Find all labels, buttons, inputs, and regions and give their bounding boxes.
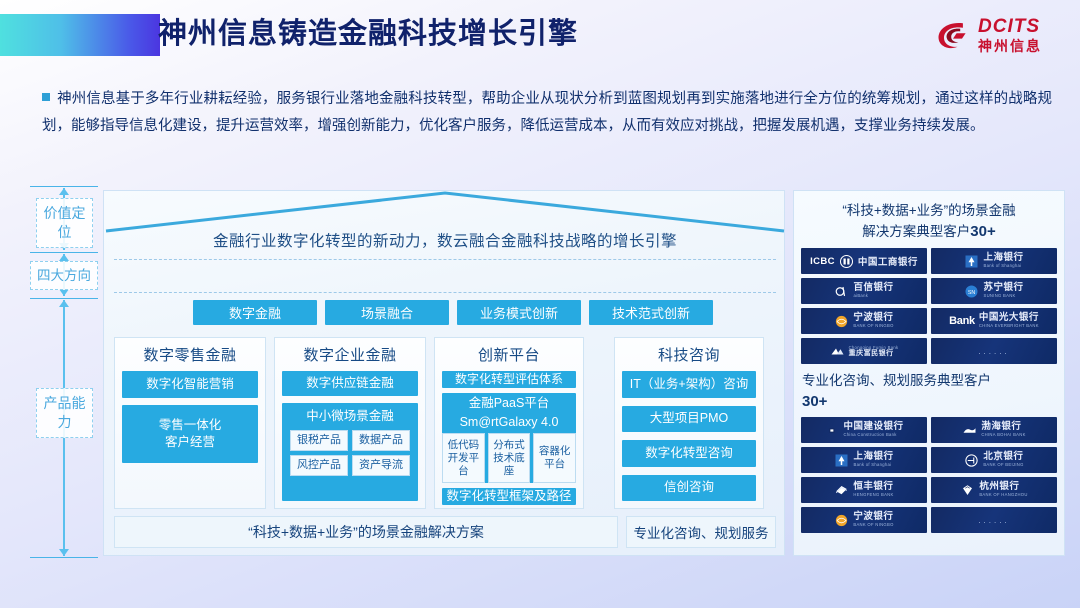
tri-container-platform[interactable]: 容器化平台 xyxy=(533,433,576,483)
item-transformation-framework[interactable]: 数字化转型框架及路径 xyxy=(442,488,576,505)
suning-en-label: SUNING BANK xyxy=(983,294,1023,298)
bullet-icon xyxy=(42,93,50,101)
center-panel: 金融行业数字化转型的新动力，数云融合金融科技战略的增长引擎 数字金融 场景融合 … xyxy=(103,190,785,556)
axis-rule-top xyxy=(30,186,98,187)
item-digital-transformation-consulting[interactable]: 数字化转型咨询 xyxy=(622,440,756,467)
title-accent-bar xyxy=(0,14,160,56)
logo-tile-bank-of-ningbo-1[interactable]: 宁波银行 BANK OF NINGBO xyxy=(801,308,927,334)
customers-title-1-line2: 解决方案典型客户 xyxy=(862,224,970,239)
divider-2 xyxy=(114,292,776,293)
aibank-en-label: aiBank xyxy=(853,294,893,298)
item-retail-integration[interactable]: 零售一体化 客户经营 xyxy=(122,405,258,463)
left-axis-labels: 价值定位 四大方向 产品能力 xyxy=(30,186,98,558)
paas-sub-grid: 低代码开发平台 分布式技术底座 容器化平台 xyxy=(442,433,576,483)
axis-label-four-directions: 四大方向 xyxy=(30,261,98,290)
customers-panel: “科技+数据+业务”的场景金融 解决方案典型客户30+ ICBC 中国工商银行 … xyxy=(793,190,1065,556)
more-dots-label-2: ...... xyxy=(978,516,1009,525)
logo-tile-bank-of-shanghai[interactable]: 上海银行 Bank of Shanghai xyxy=(931,248,1057,274)
ccb-text: 中国建设银行 China Construction Bank xyxy=(843,422,903,437)
center-captions: “科技+数据+业务”的场景金融解决方案 专业化咨询、规划服务 xyxy=(114,516,776,548)
dcits-logo-text: DCITS 神州信息 xyxy=(978,17,1042,53)
paas-name-line1: 金融PaaS平台 xyxy=(469,395,550,411)
ningbo-cn-label-2: 宁波银行 xyxy=(853,512,893,522)
four-directions-row: 数字金融 场景融合 业务模式创新 技术范式创新 xyxy=(193,300,713,325)
suning-cn-label: 苏宁银行 xyxy=(983,283,1023,293)
bank-of-shanghai-emblem-icon xyxy=(964,254,979,269)
mini-tax-product[interactable]: 银税产品 xyxy=(290,430,348,451)
customers-title-1-line1: “科技+数据+业务”的场景金融 xyxy=(842,203,1015,218)
bos-cn-label: 上海银行 xyxy=(983,253,1023,263)
center-headline: 金融行业数字化转型的新动力，数云融合金融科技战略的增长引擎 xyxy=(104,229,786,251)
item-financial-paas[interactable]: 金融PaaS平台 Sm@rtGalaxy 4.0 低代码开发平台 分布式技术底座… xyxy=(442,393,576,483)
icbc-emblem-icon xyxy=(839,254,854,269)
bank-of-hangzhou-emblem-icon xyxy=(960,483,975,498)
item-large-project-pmo[interactable]: 大型项目PMO xyxy=(622,406,756,433)
item-sme-scenario-finance[interactable]: 中小微场景金融 银税产品 数据产品 风控产品 资产导流 xyxy=(282,403,418,502)
item-smart-marketing[interactable]: 数字化智能营销 xyxy=(122,371,258,398)
mini-asset-routing[interactable]: 资产导流 xyxy=(352,455,410,476)
column-spacer xyxy=(592,337,606,509)
logo-tile-more-1[interactable]: ...... xyxy=(931,338,1057,364)
everbright-en-label: CHINA EVERBRIGHT BANK xyxy=(979,324,1039,328)
customer-logo-grid-1: ICBC 中国工商银行 上海银行 Bank of Shanghai 百信银行 a… xyxy=(794,248,1064,364)
axis-label-value-position: 价值定位 xyxy=(36,198,93,248)
divider-1 xyxy=(114,259,776,260)
customers-count-1: 30+ xyxy=(970,223,995,240)
axis-rule-bottom xyxy=(30,557,98,558)
bohai-text: 渤海银行 CHINA BOHAI BANK xyxy=(981,422,1025,437)
dcits-swirl-icon xyxy=(935,17,971,53)
column-digital-enterprise-finance: 数字企业金融 数字供应链金融 中小微场景金融 银税产品 数据产品 风控产品 资产… xyxy=(274,337,426,509)
fumin-cn-label: 重庆富民银行 xyxy=(849,350,899,357)
customers-count-2: 30+ xyxy=(802,393,827,410)
bohai-en-label: CHINA BOHAI BANK xyxy=(981,433,1025,437)
bohai-cn-label: 渤海银行 xyxy=(981,422,1025,432)
intro-paragraph: 神州信息基于多年行业耕耘经验，服务银行业落地金融科技转型，帮助企业从现状分析到蓝… xyxy=(42,86,1052,140)
dcits-logo: DCITS 神州信息 xyxy=(935,17,1042,53)
logo-tile-bank-of-ningbo-2[interactable]: 宁波银行 BANK OF NINGBO xyxy=(801,507,927,533)
suning-text: 苏宁银行 SUNING BANK xyxy=(983,283,1023,298)
customers-title-1: “科技+数据+业务”的场景金融 解决方案典型客户30+ xyxy=(794,191,1064,248)
tri-low-code-platform[interactable]: 低代码开发平台 xyxy=(442,433,485,483)
hangzhou-text: 杭州银行 BANK OF HANGZHOU xyxy=(979,482,1027,497)
axis-rule-mid2 xyxy=(30,298,98,299)
logo-tile-bank-of-shanghai-2[interactable]: 上海银行 Bank of Shanghai xyxy=(801,447,927,473)
roof-shape-icon xyxy=(104,191,786,233)
item-supply-chain-finance[interactable]: 数字供应链金融 xyxy=(282,371,418,396)
mini-data-product[interactable]: 数据产品 xyxy=(352,430,410,451)
ningbo-text-1: 宁波银行 BANK OF NINGBO xyxy=(853,313,893,328)
bank-of-ningbo-emblem-icon-2 xyxy=(834,513,849,528)
sme-product-grid: 银税产品 数据产品 风控产品 资产导流 xyxy=(290,430,410,476)
bank-of-shanghai-emblem-icon-2 xyxy=(834,453,849,468)
bos-en-label-2: Bank of Shanghai xyxy=(853,463,893,467)
ccb-emblem-icon xyxy=(824,423,839,438)
axis-rule-mid1 xyxy=(30,252,98,253)
item-transformation-assessment[interactable]: 数字化转型评估体系 xyxy=(442,371,576,388)
ningbo-en-label-2: BANK OF NINGBO xyxy=(853,523,893,527)
icbc-cn-label: 中国工商银行 xyxy=(858,254,918,268)
logo-tile-hengfeng-bank[interactable]: 恒丰银行 HENGFENG BANK xyxy=(801,477,927,503)
logo-cn-label: 神州信息 xyxy=(978,39,1042,53)
direction-chip-4[interactable]: 技术范式创新 xyxy=(589,300,713,325)
hangzhou-cn-label: 杭州银行 xyxy=(979,482,1027,492)
bohai-bank-emblem-icon xyxy=(962,423,977,438)
item-retail-line2: 客户经营 xyxy=(165,434,215,451)
icbc-prefix-label: ICBC xyxy=(810,256,835,267)
ccb-cn-label: 中国建设银行 xyxy=(843,422,903,432)
hengfeng-en-label: HENGFENG BANK xyxy=(853,493,893,497)
caption-consulting-service: 专业化咨询、规划服务 xyxy=(626,516,776,548)
item-retail-line1: 零售一体化 xyxy=(159,417,222,434)
column-4-title: 科技咨询 xyxy=(622,344,756,365)
caption-scenario-solution: “科技+数据+业务”的场景金融解决方案 xyxy=(114,516,618,548)
logo-tile-ccb[interactable]: 中国建设银行 China Construction Bank xyxy=(801,417,927,443)
hangzhou-en-label: BANK OF HANGZHOU xyxy=(979,493,1027,497)
logo-tile-aibank[interactable]: 百信银行 aiBank xyxy=(801,278,927,304)
customers-title-2-line1: 专业化咨询、规划服务典型客户 xyxy=(802,373,991,388)
bos-text-2: 上海银行 Bank of Shanghai xyxy=(853,452,893,467)
tri-distributed-base[interactable]: 分布式技术底座 xyxy=(488,433,531,483)
column-tech-consulting: 科技咨询 IT（业务+架构）咨询 大型项目PMO 数字化转型咨询 信创咨询 xyxy=(614,337,764,509)
logo-tile-everbright-bank[interactable]: Bank 中国光大银行 CHINA EVERBRIGHT BANK xyxy=(931,308,1057,334)
hengfeng-bank-emblem-icon xyxy=(834,483,849,498)
fumin-text: Chongqing Fumin Bank 重庆富民银行 xyxy=(849,345,899,358)
column-innovation-platform: 创新平台 数字化转型评估体系 金融PaaS平台 Sm@rtGalaxy 4.0 … xyxy=(434,337,584,509)
capability-columns: 数字零售金融 数字化智能营销 零售一体化 客户经营 数字企业金融 数字供应链金融… xyxy=(114,337,776,509)
customer-logo-grid-2: 中国建设银行 China Construction Bank 渤海银行 CHIN… xyxy=(794,417,1064,533)
bank-of-ningbo-emblem-icon xyxy=(834,314,849,329)
everbright-cn-label: 中国光大银行 xyxy=(979,313,1039,323)
everbright-prefix-label: Bank xyxy=(949,315,975,327)
logo-tile-icbc[interactable]: ICBC 中国工商银行 xyxy=(801,248,927,274)
beijing-cn-label: 北京银行 xyxy=(983,452,1023,462)
svg-text:SN: SN xyxy=(968,289,976,295)
ningbo-en-label-1: BANK OF NINGBO xyxy=(853,324,893,328)
page-header: 神州信息铸造金融科技增长引擎 DCITS 神州信息 xyxy=(0,0,1080,72)
item-xinchuang-consulting[interactable]: 信创咨询 xyxy=(622,475,756,502)
hengfeng-text: 恒丰银行 HENGFENG BANK xyxy=(853,482,893,497)
fumin-bank-emblem-icon xyxy=(830,344,845,359)
column-1-title: 数字零售金融 xyxy=(122,344,258,365)
mini-risk-product[interactable]: 风控产品 xyxy=(290,455,348,476)
customers-title-2: 专业化咨询、规划服务典型客户 30+ xyxy=(794,364,1064,417)
logo-en-label: DCITS xyxy=(978,17,1042,36)
intro-text: 神州信息基于多年行业耕耘经验，服务银行业落地金融科技转型，帮助企业从现状分析到蓝… xyxy=(42,91,1052,134)
page-title: 神州信息铸造金融科技增长引擎 xyxy=(158,12,578,56)
logo-tile-bank-of-hangzhou[interactable]: 杭州银行 BANK OF HANGZHOU xyxy=(931,477,1057,503)
beijing-en-label: BANK OF BEIJING xyxy=(983,463,1023,467)
suning-bank-emblem-icon: SN xyxy=(964,284,979,299)
direction-chip-3[interactable]: 业务模式创新 xyxy=(457,300,581,325)
axis-label-product-capability: 产品能力 xyxy=(36,388,93,438)
logo-tile-suning-bank[interactable]: SN 苏宁银行 SUNING BANK xyxy=(931,278,1057,304)
ningbo-cn-label-1: 宁波银行 xyxy=(853,313,893,323)
bos-cn-label-2: 上海银行 xyxy=(853,452,893,462)
aibank-cn-label: 百信银行 xyxy=(853,283,893,293)
column-digital-retail-finance: 数字零售金融 数字化智能营销 零售一体化 客户经营 xyxy=(114,337,266,509)
hengfeng-cn-label: 恒丰银行 xyxy=(853,482,893,492)
aibank-emblem-icon xyxy=(834,284,849,299)
logo-tile-more-2[interactable]: ...... xyxy=(931,507,1057,533)
bank-of-shanghai-text: 上海银行 Bank of Shanghai xyxy=(983,253,1023,268)
logo-tile-fumin-bank[interactable]: Chongqing Fumin Bank 重庆富民银行 xyxy=(801,338,927,364)
bos-en-label: Bank of Shanghai xyxy=(983,264,1023,268)
column-2-title: 数字企业金融 xyxy=(282,344,418,365)
beijing-text: 北京银行 BANK OF BEIJING xyxy=(983,452,1023,467)
paas-name-line2: Sm@rtGalaxy 4.0 xyxy=(460,414,559,430)
everbright-text: 中国光大银行 CHINA EVERBRIGHT BANK xyxy=(979,313,1039,328)
bank-of-beijing-emblem-icon xyxy=(964,453,979,468)
item-it-consulting[interactable]: IT（业务+架构）咨询 xyxy=(622,371,756,398)
ccb-en-label: China Construction Bank xyxy=(843,433,903,437)
aibank-text: 百信银行 aiBank xyxy=(853,283,893,298)
logo-tile-bohai-bank[interactable]: 渤海银行 CHINA BOHAI BANK xyxy=(931,417,1057,443)
column-3-title: 创新平台 xyxy=(442,344,576,365)
direction-chip-1[interactable]: 数字金融 xyxy=(193,300,317,325)
logo-tile-bank-of-beijing[interactable]: 北京银行 BANK OF BEIJING xyxy=(931,447,1057,473)
more-dots-label-1: ...... xyxy=(978,347,1009,356)
ningbo-text-2: 宁波银行 BANK OF NINGBO xyxy=(853,512,893,527)
direction-chip-2[interactable]: 场景融合 xyxy=(325,300,449,325)
sme-title: 中小微场景金融 xyxy=(306,408,394,425)
